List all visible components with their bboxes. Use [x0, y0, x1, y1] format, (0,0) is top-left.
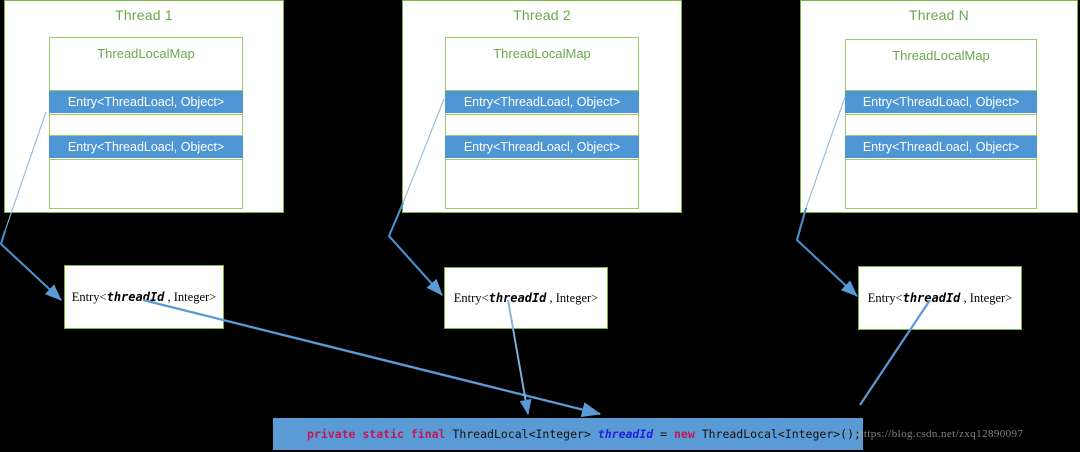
connector-thread1-to-entry-arrow — [1, 231, 61, 300]
entry-prefix: Entry< — [72, 290, 107, 304]
code-token-modifiers: private static final — [307, 427, 452, 441]
entry-variable: threadId — [489, 291, 547, 305]
entry-prefix: Entry< — [868, 291, 903, 305]
code-token-assign: = — [653, 427, 674, 441]
code-token-constructor: ThreadLocal<Integer>(); — [695, 427, 861, 441]
map-divider — [846, 159, 1036, 160]
threadlocalmap-title: ThreadLocalMap — [846, 48, 1036, 63]
entry-prefix: Entry< — [454, 291, 489, 305]
code-text: private static final ThreadLocal<Integer… — [273, 427, 861, 441]
code-declaration-bar: private static final ThreadLocal<Integer… — [273, 418, 863, 450]
thread-panel-n: Thread N ThreadLocalMap Entry<ThreadLoac… — [800, 0, 1078, 213]
map-entry-row[interactable]: Entry<ThreadLoacl, Object> — [845, 136, 1037, 158]
entry-suffix: , Integer> — [546, 291, 598, 305]
entry-box-text: Entry<threadId , Integer> — [72, 290, 216, 305]
thread-panel-title: Thread 1 — [5, 7, 283, 23]
thread-panel-1: Thread 1 ThreadLocalMap Entry<ThreadLoac… — [4, 0, 284, 213]
map-entry-row[interactable]: Entry<ThreadLoacl, Object> — [49, 91, 243, 113]
entry-variable: threadId — [107, 290, 165, 304]
threadlocalmap-box: ThreadLocalMap Entry<ThreadLoacl, Object… — [445, 37, 639, 209]
connector-threadn-to-entry-arrow — [797, 208, 857, 296]
map-divider — [446, 114, 638, 115]
code-token-variable: threadId — [598, 427, 653, 441]
code-token-new: new — [674, 427, 695, 441]
thread-panel-title: Thread N — [801, 7, 1077, 23]
connector-thread2-to-entry-arrow — [389, 203, 442, 295]
entry-box-text: Entry<threadId , Integer> — [868, 291, 1012, 306]
watermark-url: https://blog.csdn.net/zxq12890097 — [858, 428, 1023, 440]
map-divider — [50, 114, 242, 115]
map-entry-row[interactable]: Entry<ThreadLoacl, Object> — [49, 136, 243, 158]
threadlocalmap-box: ThreadLocalMap Entry<ThreadLoacl, Object… — [49, 37, 243, 209]
entry-variable: threadId — [903, 291, 961, 305]
entry-suffix: , Integer> — [164, 290, 216, 304]
entry-box-1: Entry<threadId , Integer> — [64, 265, 224, 329]
entry-box-n: Entry<threadId , Integer> — [858, 266, 1022, 330]
entry-box-2: Entry<threadId , Integer> — [444, 267, 608, 329]
map-divider — [846, 114, 1036, 115]
diagram-canvas: Thread 1 ThreadLocalMap Entry<ThreadLoac… — [0, 0, 1080, 452]
thread-panel-title: Thread 2 — [403, 7, 681, 23]
entry-suffix: , Integer> — [960, 291, 1012, 305]
threadlocalmap-title: ThreadLocalMap — [446, 46, 638, 61]
map-entry-row[interactable]: Entry<ThreadLoacl, Object> — [445, 136, 639, 158]
threadlocalmap-title: ThreadLocalMap — [50, 46, 242, 61]
code-token-type: ThreadLocal<Integer> — [452, 427, 597, 441]
map-divider — [50, 159, 242, 160]
map-divider — [446, 159, 638, 160]
map-entry-row[interactable]: Entry<ThreadLoacl, Object> — [445, 91, 639, 113]
entry-box-text: Entry<threadId , Integer> — [454, 291, 598, 306]
threadlocalmap-box: ThreadLocalMap Entry<ThreadLoacl, Object… — [845, 39, 1037, 209]
thread-panel-2: Thread 2 ThreadLocalMap Entry<ThreadLoac… — [402, 0, 682, 213]
map-entry-row[interactable]: Entry<ThreadLoacl, Object> — [845, 91, 1037, 113]
